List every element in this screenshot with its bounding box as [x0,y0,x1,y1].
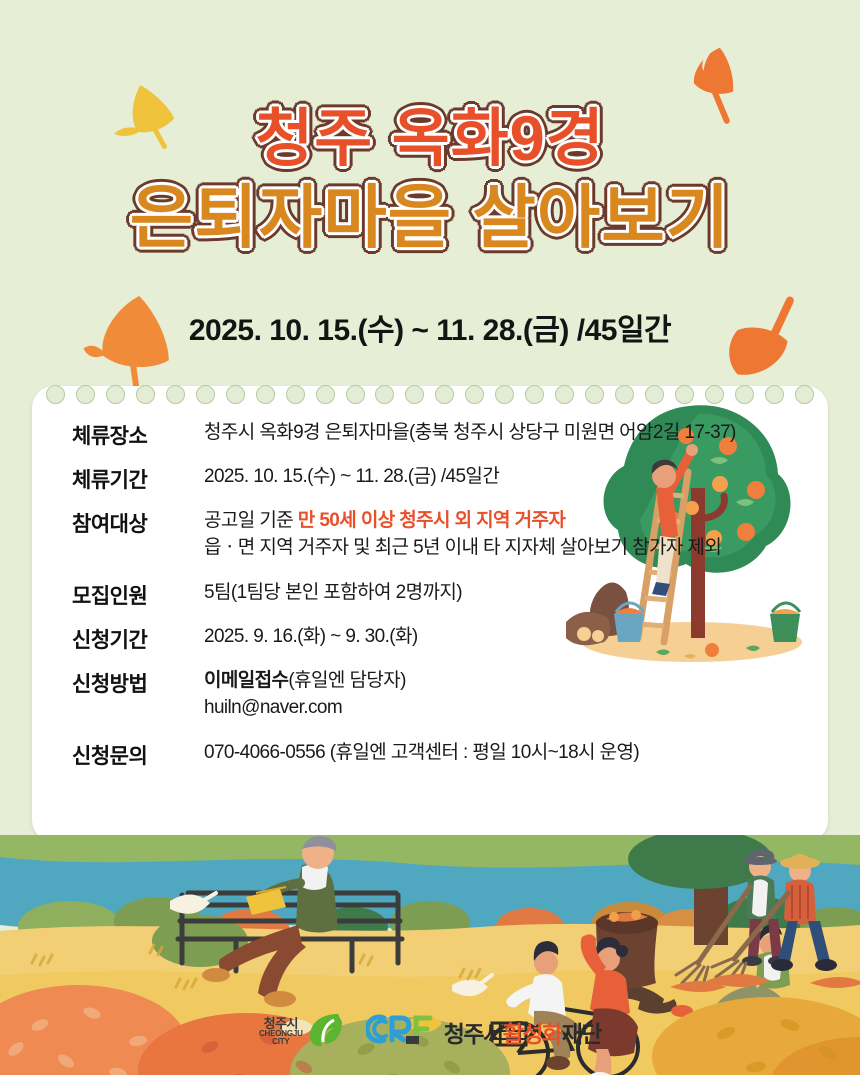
info-row-apply-period: 신청기간 2025. 9. 16.(화) ~ 9. 30.(화) [32,624,828,654]
logo-cheongju-city: 청주시 CHEONGJU CITY [259,1010,344,1053]
info-row-inquiry: 신청문의 070-4066-0556 (휴일엔 고객센터 : 평일 10시~18… [32,740,828,770]
title-line-2: 은퇴자마을 살아보기 [0,183,860,252]
info-row-stay-period: 체류기간 2025. 10. 15.(수) ~ 11. 28.(금) /45일간 [32,464,828,494]
title-line-1: 청주 옥화9경 [0,108,860,171]
info-row-location: 체류장소 청주시 옥화9경 은퇴자마을(충북 청주시 상당구 미원면 어암2길 … [32,420,828,450]
row-value-eligibility: 공고일 기준 만 50세 이상 청주시 외 지역 거주자 읍ㆍ면 지역 거주자 … [190,508,721,562]
row-value-capacity: 5팀(1팀당 본인 포함하여 2명까지) [190,580,462,607]
info-rows: 체류장소 청주시 옥화9경 은퇴자마을(충북 청주시 상당구 미원면 어암2길 … [32,420,828,770]
info-card: 체류장소 청주시 옥화9경 은퇴자마을(충북 청주시 상당구 미원면 어암2길 … [32,386,828,842]
cheongju-logo-text: 청주시 CHEONGJU CITY [259,1017,303,1046]
cheongju-leaf-mark-icon [308,1010,344,1053]
info-row-capacity: 모집인원 5팀(1팀당 본인 포함하여 2명까지) [32,580,828,610]
logo-crf-foundation: 청주시활성화재단 [366,1012,601,1051]
info-row-eligibility: 참여대상 공고일 기준 만 50세 이상 청주시 외 지역 거주자 읍ㆍ면 지역… [32,508,828,562]
cheongju-english-line-2: CITY [259,1038,303,1046]
row-value-location: 청주시 옥화9경 은퇴자마을(충북 청주시 상당구 미원면 어암2길 17-37… [190,420,736,447]
row-value-inquiry: 070-4066-0556 (휴일엔 고객센터 : 평일 10시~18시 운영) [190,740,639,767]
row-label-inquiry: 신청문의 [32,740,190,770]
row-value-stay-period: 2025. 10. 15.(수) ~ 11. 28.(금) /45일간 [190,464,499,491]
eligibility-highlight: 만 50세 이상 청주시 외 지역 거주자 [298,510,565,531]
eligibility-line-2: 읍ㆍ면 지역 거주자 및 최근 5년 이내 타 지자체 살아보기 참가자 제외 [204,535,721,562]
crf-name-part-1: 청주시 [444,1021,503,1047]
crf-mark-icon [366,1012,440,1051]
poster-subtitle-dates: 2025. 10. 15.(수) ~ 11. 28.(금) /45일간 [0,305,860,349]
info-row-apply-method: 신청방법 이메일접수(휴일엔 담당자) huiln@naver.com [32,668,828,722]
apply-method-bold: 이메일접수 [204,670,288,691]
apply-method-email[interactable]: huiln@naver.com [204,695,406,722]
poster-title: 청주 옥화9경 은퇴자마을 살아보기 [0,108,860,252]
apply-method-rest: (휴일엔 담당자) [288,670,405,691]
row-label-apply-period: 신청기간 [32,624,190,654]
crf-name-part-3: 재단 [562,1021,601,1047]
crf-name-part-2: 활성화 [503,1021,562,1047]
row-value-apply-period: 2025. 9. 16.(화) ~ 9. 30.(화) [190,624,418,651]
row-value-apply-method: 이메일접수(휴일엔 담당자) huiln@naver.com [190,668,406,722]
eligibility-prefix: 공고일 기준 [204,510,298,531]
row-label-apply-method: 신청방법 [32,668,190,698]
crf-foundation-name: 청주시활성화재단 [444,1015,601,1049]
row-label-capacity: 모집인원 [32,580,190,610]
poster-root: 청주 옥화9경 은퇴자마을 살아보기 2025. 10. 15.(수) ~ 11… [0,0,860,1075]
row-label-location: 체류장소 [32,420,190,450]
row-label-eligibility: 참여대상 [32,508,190,538]
footer-logos: 청주시 CHEONGJU CITY 청 [0,1010,860,1053]
row-label-stay-period: 체류기간 [32,464,190,494]
